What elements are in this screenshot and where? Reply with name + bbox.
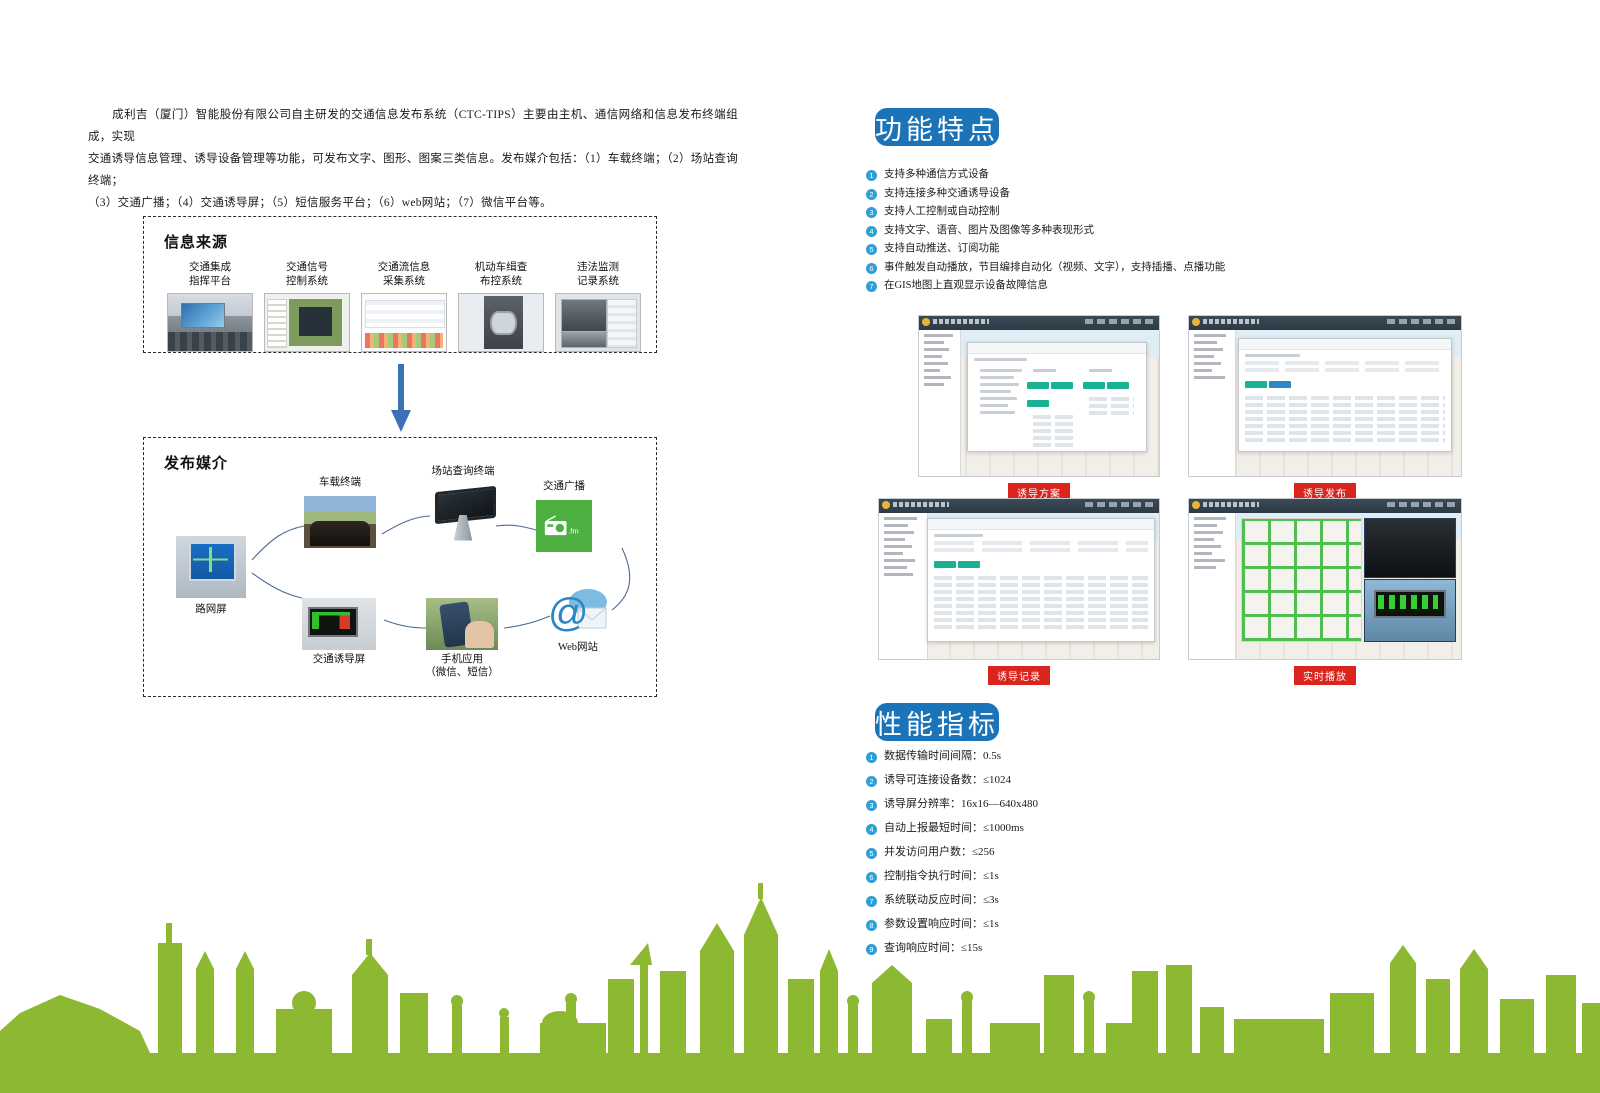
signal-control-thumbnail xyxy=(264,293,350,352)
city-skyline-silhouette xyxy=(0,883,1600,1093)
road-network-screen-photo xyxy=(176,536,246,598)
feature-num: 7 xyxy=(866,281,877,292)
spec-num: 3 xyxy=(866,800,877,811)
station-kiosk-photo xyxy=(430,486,496,544)
specs-badge: 性能指标 xyxy=(875,703,999,741)
information-source-box: 信息来源 交通集成 指挥平台 交通信号 控制系统 交通流信息 采集系统 xyxy=(143,216,657,353)
in-vehicle-terminal-photo xyxy=(304,496,376,548)
traffic-flow-thumbnail xyxy=(361,293,447,352)
svg-text:.fm: .fm xyxy=(568,527,578,536)
intro-line-2: 交通诱导信息管理、诱导设备管理等功能，可发布文字、图形、图案三类信息。发布媒介包… xyxy=(88,153,738,187)
feature-num: 6 xyxy=(866,263,877,274)
feature-num: 1 xyxy=(866,170,877,181)
feature-text: 支持多种通信方式设备 xyxy=(884,168,989,181)
feature-num: 4 xyxy=(866,226,877,237)
spec-num: 6 xyxy=(866,872,877,883)
spec-text: 诱导屏分辨率：16x16—640x480 xyxy=(884,798,1038,811)
feature-num: 2 xyxy=(866,189,877,200)
screenshot-card-2: 诱导记录 xyxy=(878,498,1160,685)
control-room-thumbnail xyxy=(167,293,253,352)
svg-text:@: @ xyxy=(548,591,589,635)
features-list: 1 支持多种通信方式设备 2 支持连接多种交通诱导设备 3 支持人工控制或自动控… xyxy=(866,168,1286,298)
feature-text: 支持文字、语音、图片及图像等多种表现形式 xyxy=(884,224,1094,237)
media-label-mobile-sub: （微信、短信） xyxy=(402,666,522,680)
source-item-3: 机动车缉查 布控系统 xyxy=(457,261,545,357)
radio-glyph-icon: .fm xyxy=(544,515,584,537)
screenshot-card-0: 诱导方案 xyxy=(918,315,1160,502)
source-item-4-label-2: 记录系统 xyxy=(577,276,619,287)
source-item-3-label-1: 机动车缉查 xyxy=(475,262,528,273)
spec-item: 3 诱导屏分辨率：16x16—640x480 xyxy=(866,798,1286,811)
live-vms-photo xyxy=(1364,579,1456,642)
media-label-mobile: 手机应用 xyxy=(402,653,522,667)
source-item-1: 交通信号 控制系统 xyxy=(263,261,351,357)
media-label-road: 路网屏 xyxy=(151,603,271,617)
intro-line-1: 成利吉（厦门）智能股份有限公司自主研发的交通信息发布系统（CTC-TIPS）主要… xyxy=(88,109,738,143)
at-envelope-glyph-icon: @ xyxy=(548,584,610,638)
feature-item: 1 支持多种通信方式设备 xyxy=(866,168,1286,181)
spec-item: 1 数据传输时间间隔：0.5s xyxy=(866,750,1286,763)
screenshot-card-3: 实时播放 xyxy=(1188,498,1462,685)
media-label-vms: 交通诱导屏 xyxy=(279,653,399,667)
source-item-4: 违法监测 记录系统 xyxy=(554,261,642,357)
spec-text: 自动上报最短时间：≤1000ms xyxy=(884,822,1024,835)
spec-text: 控制指令执行时间：≤1s xyxy=(884,870,999,883)
spec-item: 5 并发访问用户数：≤256 xyxy=(866,846,1286,859)
source-item-0-label-1: 交通集成 xyxy=(189,262,231,273)
feature-num: 3 xyxy=(866,207,877,218)
screenshot-image-3 xyxy=(1188,498,1462,660)
information-source-title: 信息来源 xyxy=(164,231,228,252)
vehicle-inspection-thumbnail xyxy=(458,293,544,352)
source-item-2: 交通流信息 采集系统 xyxy=(360,261,448,357)
source-item-4-label-1: 违法监测 xyxy=(577,262,619,273)
feature-item: 2 支持连接多种交通诱导设备 xyxy=(866,187,1286,200)
screenshot-caption-3: 实时播放 xyxy=(1294,666,1356,685)
publishing-media-title: 发布媒介 xyxy=(164,452,228,473)
down-arrow-icon xyxy=(389,364,413,434)
intro-line-3: （3）交通广播；（4）交通诱导屏；（5）短信服务平台；（6）web网站；（7）微… xyxy=(88,197,552,209)
spec-num: 5 xyxy=(866,848,877,859)
feature-item: 6 事件触发自动播放，节目编排自动化（视频、文字），支持插播、点播功能 xyxy=(866,261,1286,274)
source-item-0: 交通集成 指挥平台 xyxy=(166,261,254,357)
media-label-kiosk: 场站查询终端 xyxy=(403,465,523,479)
screenshot-image-2 xyxy=(878,498,1160,660)
media-label-vehicle: 车载终端 xyxy=(280,476,400,490)
screenshot-image-1 xyxy=(1188,315,1462,477)
intro-paragraph: 成利吉（厦门）智能股份有限公司自主研发的交通信息发布系统（CTC-TIPS）主要… xyxy=(88,104,738,214)
feature-item: 5 支持自动推送、订阅功能 xyxy=(866,242,1286,255)
spec-text: 数据传输时间间隔：0.5s xyxy=(884,750,1001,763)
source-item-1-label-2: 控制系统 xyxy=(286,276,328,287)
feature-text: 支持人工控制或自动控制 xyxy=(884,205,1000,218)
spec-item: 2 诱导可连接设备数：≤1024 xyxy=(866,774,1286,787)
spec-num: 4 xyxy=(866,824,877,835)
screenshot-caption-2: 诱导记录 xyxy=(988,666,1050,685)
traffic-status-map xyxy=(1241,518,1363,642)
source-item-2-label-2: 采集系统 xyxy=(383,276,425,287)
at-sign-email-icon: @ xyxy=(548,584,610,638)
source-item-1-label-1: 交通信号 xyxy=(286,262,328,273)
feature-item: 7 在GIS地图上直观显示设备故障信息 xyxy=(866,279,1286,292)
media-label-radio: 交通广播 xyxy=(504,480,624,494)
source-item-2-label-1: 交通流信息 xyxy=(378,262,431,273)
source-item-3-label-2: 布控系统 xyxy=(480,276,522,287)
violation-record-thumbnail xyxy=(555,293,641,352)
spec-num: 2 xyxy=(866,776,877,787)
brochure-page: 成利吉（厦门）智能股份有限公司自主研发的交通信息发布系统（CTC-TIPS）主要… xyxy=(0,0,1600,1093)
spec-item: 4 自动上报最短时间：≤1000ms xyxy=(866,822,1286,835)
features-badge: 功能特点 xyxy=(875,108,999,146)
spec-num: 1 xyxy=(866,752,877,763)
spec-item: 6 控制指令执行时间：≤1s xyxy=(866,870,1286,883)
feature-text: 在GIS地图上直观显示设备故障信息 xyxy=(884,279,1048,292)
feature-text: 事件触发自动播放，节目编排自动化（视频、文字），支持插播、点播功能 xyxy=(884,261,1225,274)
spec-text: 并发访问用户数：≤256 xyxy=(884,846,995,859)
mobile-app-photo xyxy=(426,598,498,650)
live-camera-feed xyxy=(1364,518,1456,578)
spec-text: 诱导可连接设备数：≤1024 xyxy=(884,774,1011,787)
vms-guidance-screen-photo xyxy=(302,598,376,650)
source-item-0-label-2: 指挥平台 xyxy=(189,276,231,287)
publishing-media-box: 发布媒介 路网屏 车载终端 场站查询终端 xyxy=(143,437,657,697)
feature-num: 5 xyxy=(866,244,877,255)
media-label-web: Web网站 xyxy=(518,641,638,655)
screenshot-card-1: 诱导发布 xyxy=(1188,315,1462,502)
screenshot-image-0 xyxy=(918,315,1160,477)
radio-fm-icon: .fm xyxy=(536,500,592,552)
feature-text: 支持自动推送、订阅功能 xyxy=(884,242,1000,255)
feature-text: 支持连接多种交通诱导设备 xyxy=(884,187,1010,200)
feature-item: 4 支持文字、语音、图片及图像等多种表现形式 xyxy=(866,224,1286,237)
feature-item: 3 支持人工控制或自动控制 xyxy=(866,205,1286,218)
